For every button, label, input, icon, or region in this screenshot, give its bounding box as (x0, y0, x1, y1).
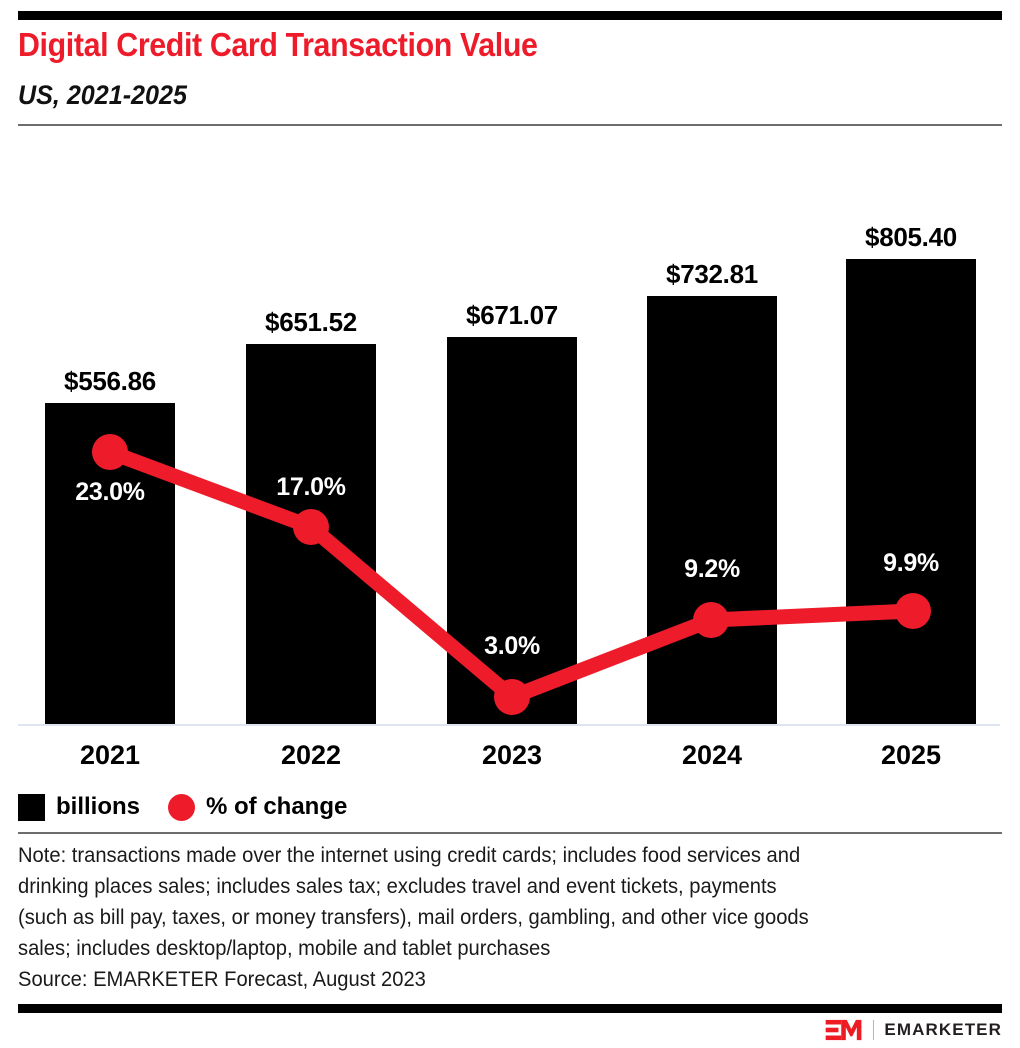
brand-wordmark: EMARKETER (884, 1020, 1002, 1040)
page-title: Digital Credit Card Transaction Value (18, 26, 538, 64)
x-tick-2021: 2021 (25, 740, 195, 771)
legend-label-billions: billions (56, 793, 140, 821)
x-tick-2022: 2022 (226, 740, 396, 771)
percent-label-2022: 17.0% (226, 473, 396, 502)
data-point-marker-2021 (92, 434, 128, 470)
x-tick-2024: 2024 (627, 740, 797, 771)
note-line-2: drinking places sales; includes sales ta… (18, 871, 940, 902)
page-subtitle: US, 2021-2025 (18, 80, 187, 111)
data-point-marker-2025 (895, 593, 931, 629)
bar-2023 (447, 337, 577, 724)
bar-value-label-2023: $671.07 (427, 300, 597, 331)
legend-item-percent-change: % of change (168, 793, 347, 821)
data-point-marker-2024 (693, 602, 729, 638)
note-line-4: sales; includes desktop/laptop, mobile a… (18, 933, 940, 964)
source-line: Source: EMARKETER Forecast, August 2023 (18, 964, 940, 995)
note-line-3: (such as bill pay, taxes, or money trans… (18, 902, 940, 933)
brand-divider (873, 1020, 874, 1040)
legend-divider (18, 832, 1002, 834)
data-point-marker-2022 (293, 509, 329, 545)
black-square-icon (18, 794, 45, 821)
percent-label-2024: 9.2% (627, 555, 797, 584)
legend-label-percent-change: % of change (206, 793, 347, 821)
bar-2022 (246, 344, 376, 724)
percent-label-2023: 3.0% (427, 632, 597, 661)
header-divider (18, 124, 1002, 126)
red-circle-icon (168, 794, 195, 821)
x-tick-2023: 2023 (427, 740, 597, 771)
data-point-marker-2023 (494, 679, 530, 715)
footer-divider (18, 1004, 1002, 1013)
bar-2021 (45, 403, 175, 724)
percent-change-line (110, 452, 913, 697)
chart-notes: Note: transactions made over the interne… (18, 840, 940, 995)
bar-value-label-2021: $556.86 (25, 366, 195, 397)
note-line-1: Note: transactions made over the interne… (18, 840, 940, 871)
brand-logo: EMARKETER (825, 1019, 1002, 1041)
bar-value-label-2022: $651.52 (226, 307, 396, 338)
percent-label-2021: 23.0% (25, 478, 195, 507)
top-divider (18, 11, 1002, 20)
bar-value-label-2025: $805.40 (826, 222, 996, 253)
bar-2025 (846, 259, 976, 724)
x-tick-2025: 2025 (826, 740, 996, 771)
x-axis-line (18, 724, 1000, 726)
bar-value-label-2024: $732.81 (627, 259, 797, 290)
chart-legend: billions % of change (18, 793, 347, 821)
percent-label-2025: 9.9% (826, 549, 996, 578)
emarketer-em-mark-icon (825, 1019, 863, 1041)
legend-item-billions: billions (18, 793, 140, 821)
chart-page: Digital Credit Card Transaction Value US… (0, 0, 1020, 1048)
bar-2024 (647, 296, 777, 724)
